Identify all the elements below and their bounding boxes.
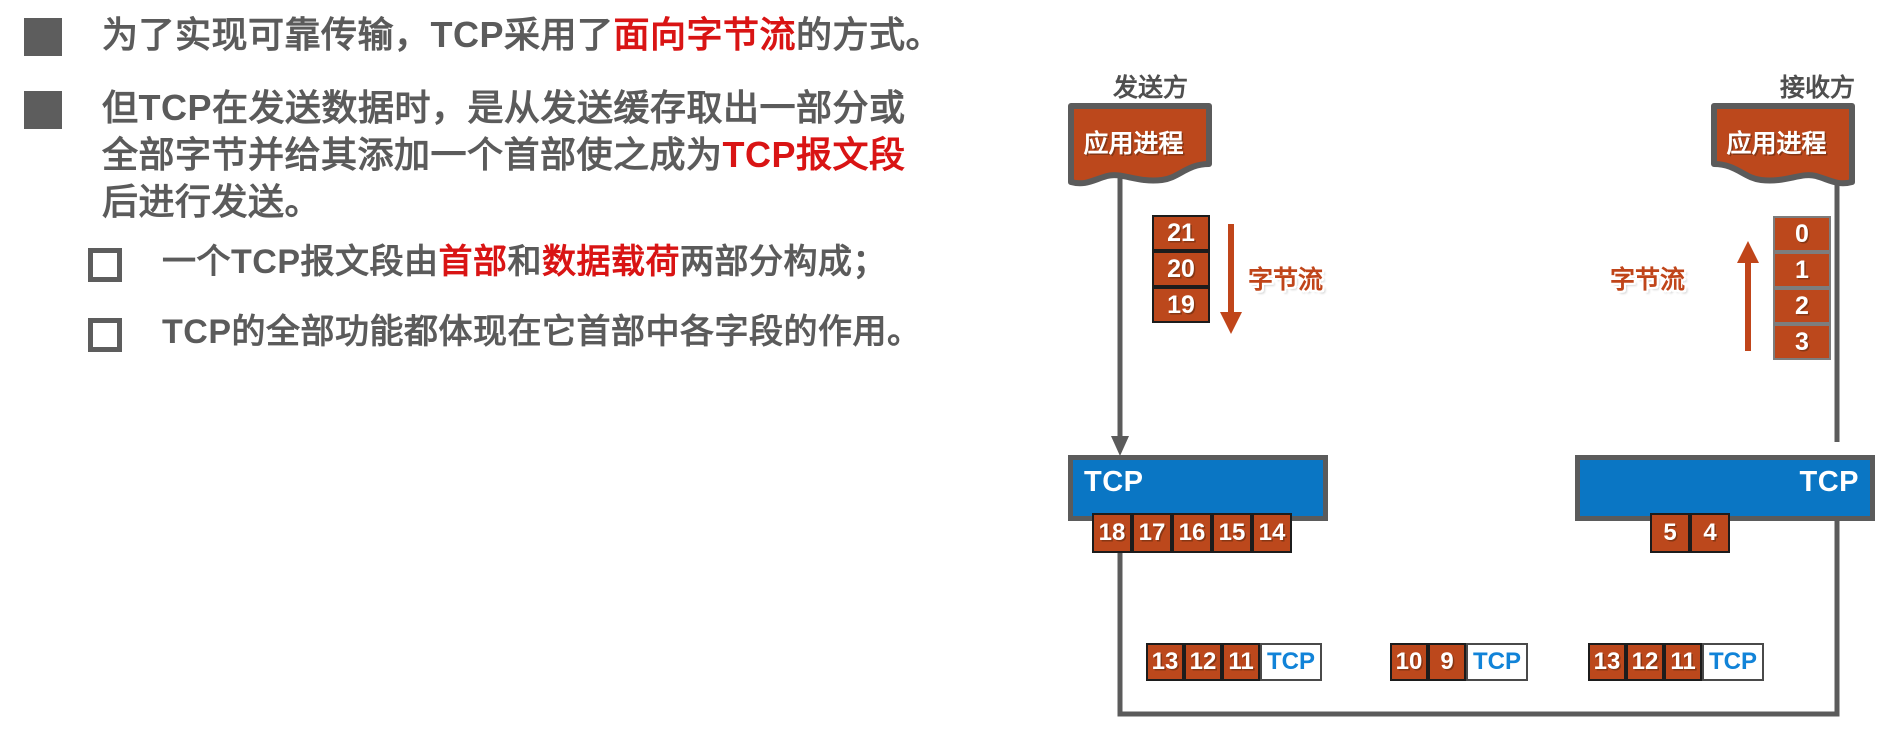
sender-tcp-layer-box: TCP — [1068, 455, 1328, 521]
receiver-tcp-buffer-row: 54 — [1650, 513, 1730, 553]
receiver-side-label: 接收方 — [1780, 68, 1855, 104]
byte-cell: 17 — [1132, 513, 1172, 553]
byte-cell: 15 — [1212, 513, 1252, 553]
segment-byte-cell: 11 — [1222, 643, 1260, 681]
hollow-square-bullet-icon — [88, 248, 122, 282]
text-run: 两部分构成； — [680, 243, 887, 281]
hollow-square-bullet-icon — [88, 318, 122, 352]
text-run: 后进行发送。 — [102, 181, 321, 222]
receiver-tcp-layer-box: TCP — [1575, 455, 1875, 521]
receiver-receive-buffer-stack: 0123 — [1773, 216, 1831, 360]
tcp-segment-2: 109TCP — [1390, 643, 1528, 681]
bullet-item-1: 为了实现可靠传输，TCP采用了面向字节流的方式。 — [24, 12, 1112, 59]
text-run: 一个TCP报文段由 — [162, 243, 439, 281]
sub-bullet-2-text: TCP的全部功能都体现在它首部中各字段的作用。 — [162, 310, 922, 354]
solid-square-bullet-icon — [24, 18, 62, 56]
sender-byte-stream-arrow-icon — [1218, 222, 1244, 337]
slide-text-column: 为了实现可靠传输，TCP采用了面向字节流的方式。 但TCP在发送数据时，是从发送… — [0, 0, 1090, 750]
byte-cell: 1 — [1773, 252, 1831, 288]
text-run: 的方式。 — [796, 14, 942, 55]
byte-cell: 4 — [1690, 513, 1730, 553]
text-run: 和 — [508, 243, 543, 281]
segment-byte-cell: 13 — [1588, 643, 1626, 681]
tcp-byte-stream-diagram: 发送方 应用进程 212019 字节流 TCP 1817161514 接收方 应… — [1080, 0, 1880, 750]
sub-bullet-1-text: 一个TCP报文段由首部和数据载荷两部分构成； — [162, 240, 887, 284]
segment-byte-cell: 10 — [1390, 643, 1428, 681]
segment-tcp-header-cell: TCP — [1466, 643, 1528, 681]
bullet-item-2: 但TCP在发送数据时，是从发送缓存取出一部分或全部字节并给其添加一个首部使之成为… — [24, 85, 932, 225]
bullet-2-text: 但TCP在发送数据时，是从发送缓存取出一部分或全部字节并给其添加一个首部使之成为… — [102, 85, 932, 225]
byte-cell: 18 — [1092, 513, 1132, 553]
sender-tcp-buffer-row: 1817161514 — [1092, 513, 1292, 553]
sender-send-buffer-stack: 212019 — [1152, 215, 1210, 323]
segment-byte-cell: 9 — [1428, 643, 1466, 681]
receiver-byte-stream-arrow-icon — [1735, 238, 1761, 353]
byte-cell: 21 — [1152, 215, 1210, 251]
byte-cell: 14 — [1252, 513, 1292, 553]
receiver-app-process-box: 应用进程 — [1710, 102, 1843, 190]
byte-cell: 16 — [1172, 513, 1212, 553]
sender-app-process-box: 应用进程 — [1067, 102, 1200, 190]
highlighted-text-run: 数据载荷 — [542, 243, 680, 281]
highlighted-text-run: 面向字节流 — [614, 14, 797, 55]
segment-byte-cell: 13 — [1146, 643, 1184, 681]
highlighted-text-run: TCP报文段 — [723, 134, 906, 175]
sender-byte-stream-label: 字节流 — [1248, 260, 1323, 296]
sub-bullet-item-1: 一个TCP报文段由首部和数据载荷两部分构成； — [88, 240, 887, 284]
byte-cell: 5 — [1650, 513, 1690, 553]
byte-cell: 19 — [1152, 287, 1210, 323]
byte-cell: 0 — [1773, 216, 1831, 252]
segment-byte-cell: 12 — [1626, 643, 1664, 681]
segment-tcp-header-cell: TCP — [1702, 643, 1764, 681]
receiver-tcp-layer-label: TCP — [1800, 466, 1860, 499]
segment-byte-cell: 12 — [1184, 643, 1222, 681]
sender-tcp-layer-label: TCP — [1084, 466, 1144, 499]
receiver-app-process-label: 应用进程 — [1710, 124, 1843, 160]
sub-bullet-item-2: TCP的全部功能都体现在它首部中各字段的作用。 — [88, 310, 922, 354]
byte-cell: 20 — [1152, 251, 1210, 287]
highlighted-text-run: 首部 — [439, 243, 508, 281]
text-run: 为了实现可靠传输，TCP采用了 — [102, 14, 614, 55]
sender-side-label: 发送方 — [1113, 68, 1188, 104]
solid-square-bullet-icon — [24, 91, 62, 129]
bullet-1-text: 为了实现可靠传输，TCP采用了面向字节流的方式。 — [102, 12, 1112, 59]
segment-tcp-header-cell: TCP — [1260, 643, 1322, 681]
tcp-segment-3: 131211TCP — [1588, 643, 1764, 681]
tcp-segment-1: 131211TCP — [1146, 643, 1322, 681]
segment-byte-cell: 11 — [1664, 643, 1702, 681]
sender-app-process-label: 应用进程 — [1067, 124, 1200, 160]
receiver-byte-stream-label: 字节流 — [1610, 260, 1685, 296]
byte-cell: 3 — [1773, 324, 1831, 360]
text-run: TCP的全部功能都体现在它首部中各字段的作用。 — [162, 313, 922, 351]
byte-cell: 2 — [1773, 288, 1831, 324]
